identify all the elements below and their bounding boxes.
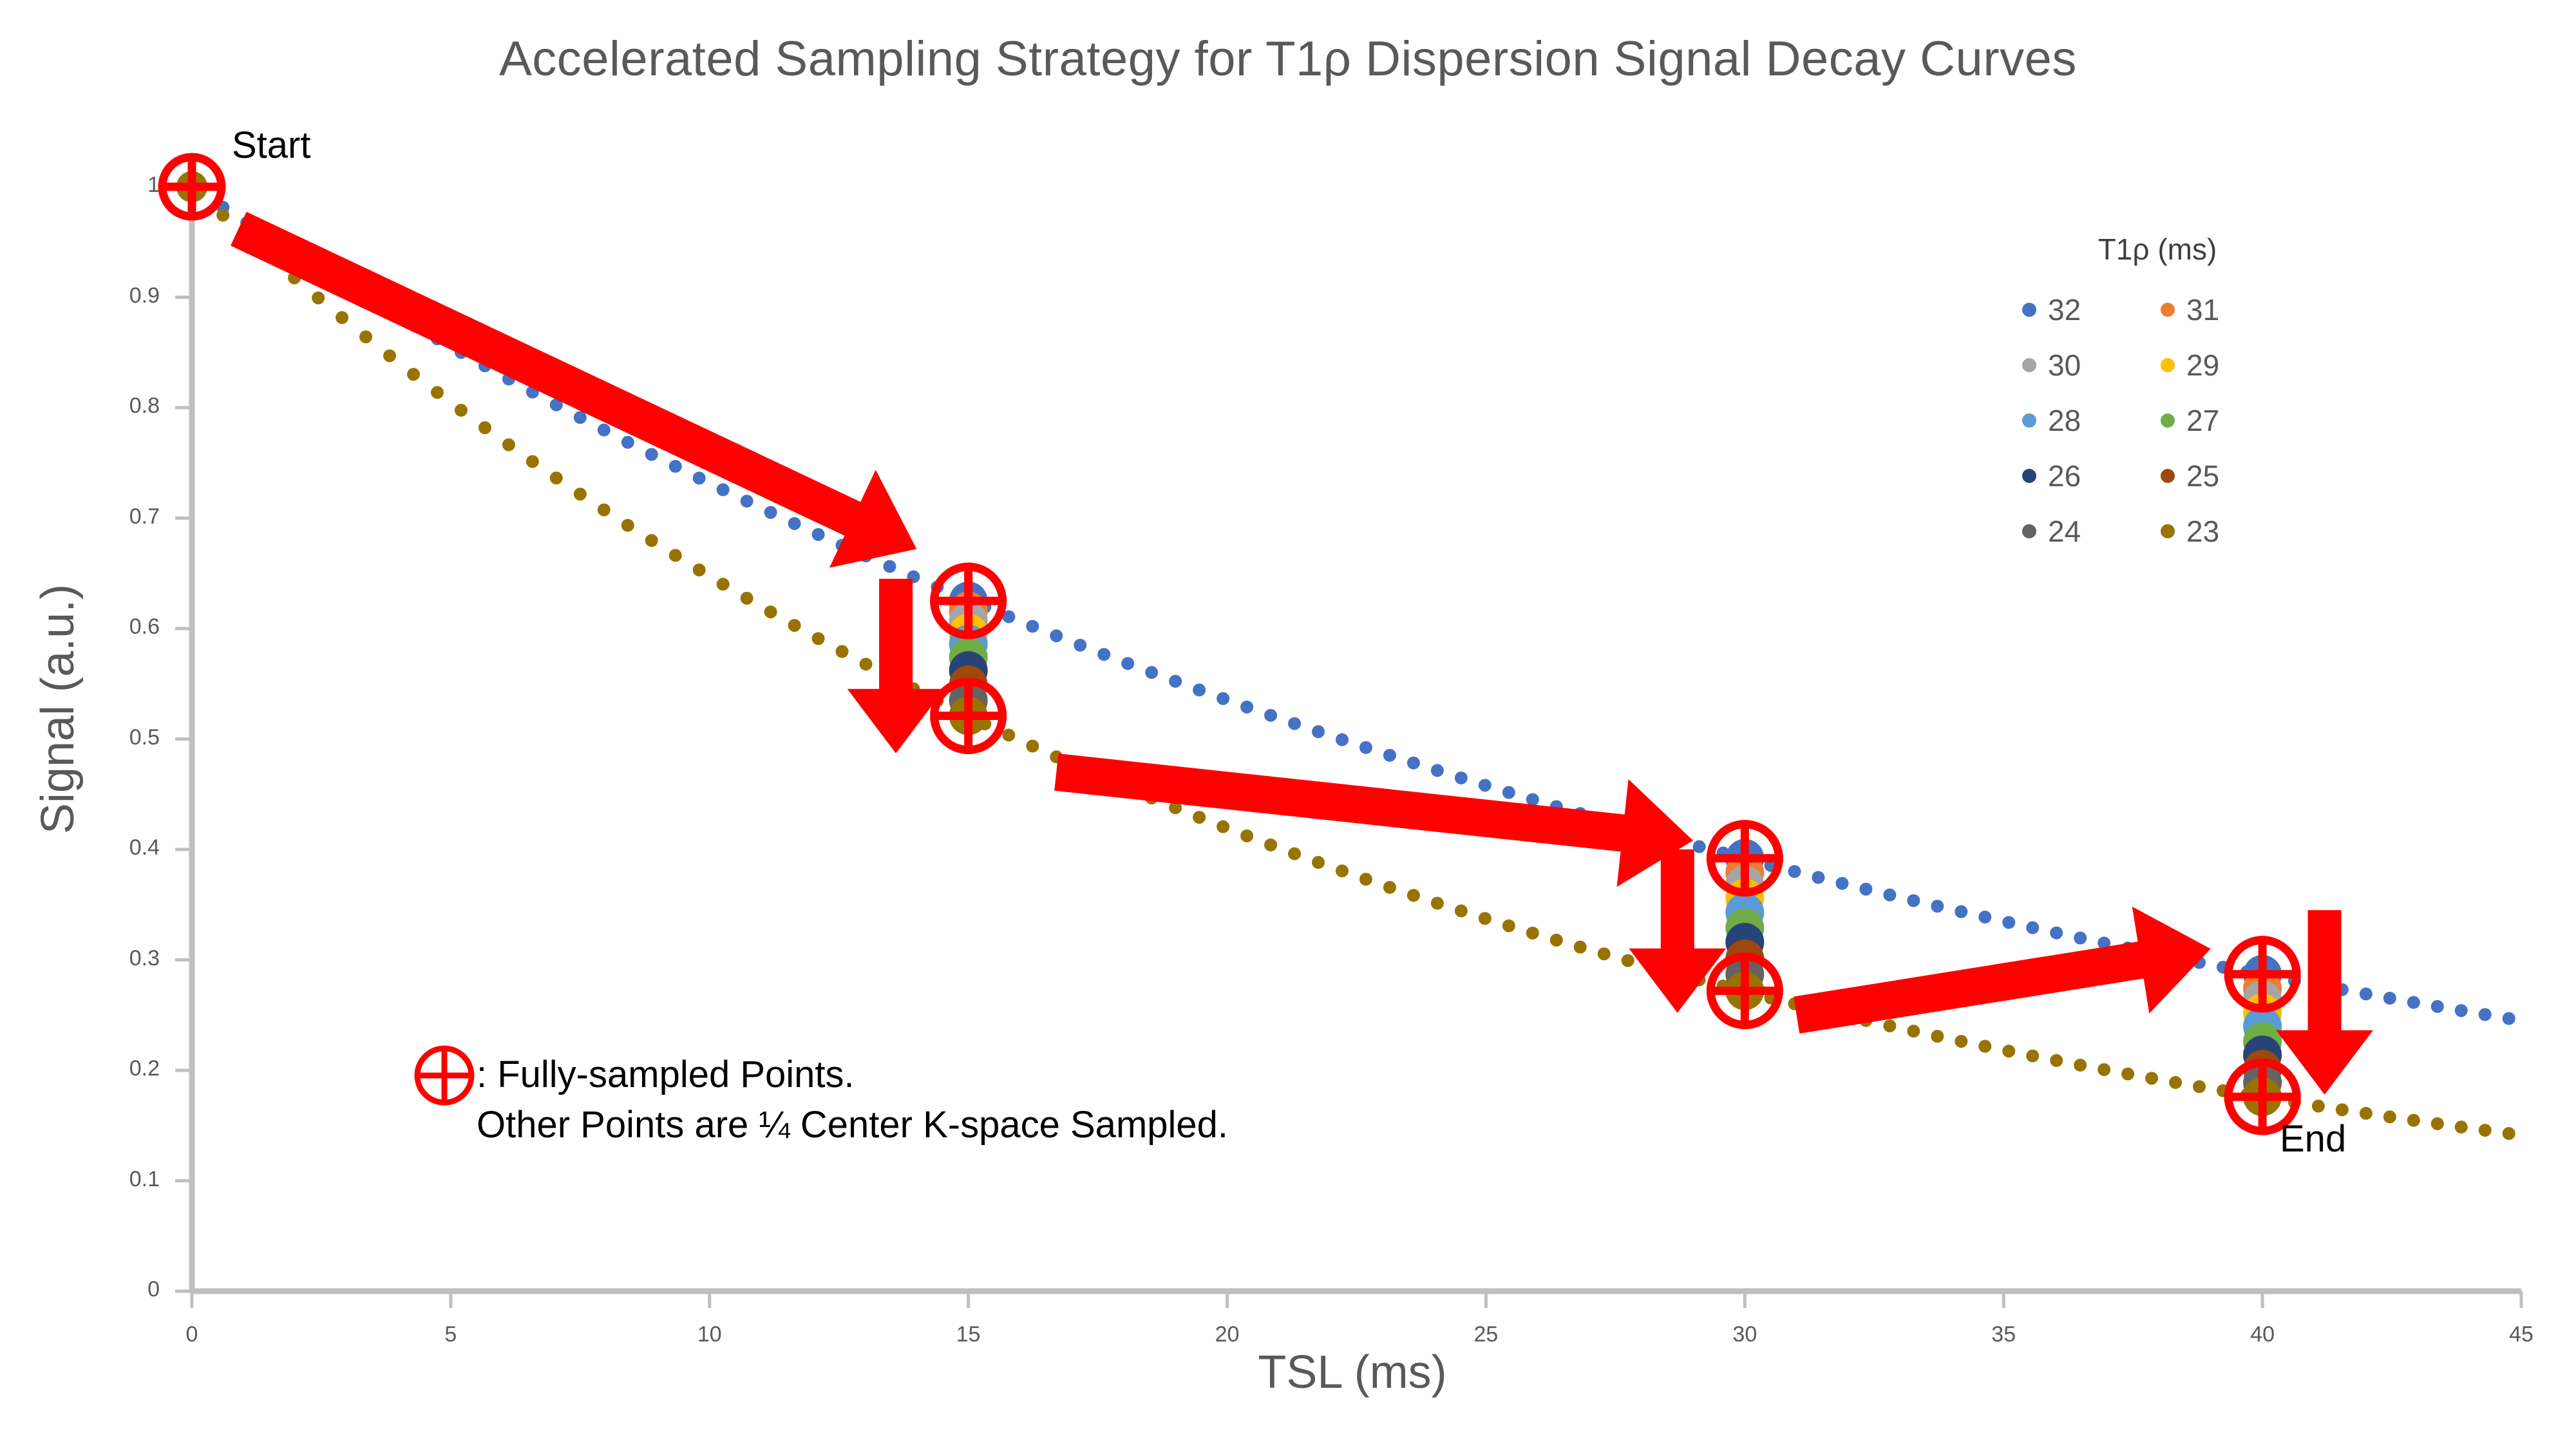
- legend-swatch-icon: [2161, 413, 2175, 428]
- x-tick-label: 10: [658, 1322, 761, 1347]
- curve-dot: [645, 448, 658, 461]
- curve-dot: [1407, 889, 1420, 902]
- curve-dot: [1312, 856, 1325, 869]
- legend-swatch-icon: [2161, 303, 2175, 317]
- curve-dot: [1074, 639, 1086, 652]
- curve-dot: [2026, 1050, 2039, 1063]
- curve-dot: [1383, 881, 1396, 894]
- curve-dot: [812, 528, 825, 541]
- curve-dot: [2455, 1121, 2468, 1133]
- legend-item-label: 25: [2186, 461, 2219, 491]
- note-line-1: : Fully-sampled Points.: [477, 1050, 1228, 1100]
- x-tick-label: 40: [2211, 1322, 2314, 1347]
- curve-dot: [1931, 900, 1944, 913]
- legend-item[interactable]: 24: [2022, 516, 2154, 546]
- curve-dot: [1931, 1030, 1944, 1043]
- start-label: Start: [232, 124, 311, 167]
- curve-dot: [383, 349, 396, 362]
- curve-dot: [1145, 666, 1158, 679]
- legend-item-label: 23: [2186, 516, 2219, 546]
- curve-dot: [1050, 629, 1063, 642]
- curve-dot: [1550, 934, 1563, 947]
- curve-dot: [1955, 1035, 1967, 1048]
- legend-item[interactable]: 31: [2161, 295, 2293, 325]
- curve-dot: [788, 517, 801, 530]
- curve-dot: [764, 605, 777, 618]
- curve-dot: [1835, 877, 1848, 890]
- curve-dot: [645, 534, 658, 547]
- fully-sampled-marker[interactable]: [2224, 936, 2301, 1012]
- y-tick-label: 0.5: [70, 725, 160, 750]
- curve-dot: [1883, 889, 1896, 902]
- legend-title: T1ρ (ms): [2022, 232, 2293, 267]
- curve-dot: [1026, 620, 1039, 633]
- curve-dot: [1788, 865, 1801, 878]
- curve-dot: [812, 632, 825, 645]
- legend-swatch-icon: [2022, 524, 2036, 538]
- curve-dot: [860, 658, 873, 670]
- legend-item-label: 28: [2048, 406, 2081, 435]
- curve-dot: [1407, 757, 1420, 770]
- curve-dot: [574, 411, 587, 424]
- legend-item-label: 31: [2186, 295, 2219, 325]
- curve-dot: [1955, 905, 1967, 918]
- curve-dot: [455, 404, 468, 417]
- curve-dot: [1431, 897, 1444, 910]
- curve-dot: [2360, 987, 2372, 1000]
- legend-item[interactable]: 28: [2022, 406, 2154, 435]
- strategy-arrow: [1794, 907, 2211, 1034]
- legend-item[interactable]: 27: [2161, 406, 2293, 435]
- curve-dot: [502, 439, 515, 451]
- curve-dot: [1978, 1040, 1991, 1053]
- curve-dot: [526, 455, 539, 468]
- strategy-arrow: [231, 212, 916, 568]
- curve-dot: [550, 471, 563, 484]
- note-line-2: Other Points are ¼ Center K-space Sample…: [477, 1100, 1228, 1150]
- curve-dot: [2002, 1045, 2015, 1057]
- curve-dot: [1598, 947, 1611, 960]
- curve-dot: [2145, 1072, 2158, 1084]
- curve-dot: [1288, 848, 1301, 860]
- curve-dot: [1336, 734, 1349, 746]
- curve-dot: [2479, 1124, 2492, 1137]
- chart-plot-area: [0, 0, 2576, 1449]
- x-tick-label: 0: [140, 1322, 243, 1347]
- curve-dot: [2074, 1059, 2087, 1072]
- curve-dot: [1359, 873, 1372, 885]
- curve-dot: [1312, 725, 1325, 738]
- curve-dot: [883, 560, 896, 573]
- curve-dot: [717, 578, 730, 591]
- x-tick-label: 25: [1434, 1322, 1537, 1347]
- curve-dot: [1264, 709, 1277, 722]
- legend-items: 32313029282726252423: [2022, 295, 2293, 546]
- curve-dot: [1455, 772, 1468, 784]
- fully-sampled-marker[interactable]: [930, 563, 1007, 639]
- chart-canvas: Accelerated Sampling Strategy for T1ρ Di…: [0, 0, 2576, 1449]
- legend-item-label: 32: [2048, 295, 2081, 325]
- curve-dot: [1097, 648, 1110, 661]
- strategy-arrow: [1054, 753, 1693, 887]
- strategy-arrow: [2276, 910, 2373, 1094]
- legend-swatch-icon: [2161, 524, 2175, 538]
- note-fully-sampled-icon: [417, 1048, 471, 1103]
- curve-dot: [1240, 701, 1253, 714]
- curve-dot: [1502, 920, 1515, 933]
- curve-dot: [788, 619, 801, 632]
- legend-item[interactable]: 25: [2161, 461, 2293, 491]
- legend-swatch-icon: [2161, 469, 2175, 483]
- curve-dot: [1907, 894, 1920, 907]
- legend-swatch-icon: [2022, 303, 2036, 317]
- legend-item-label: 30: [2048, 350, 2081, 380]
- curve-dot: [1193, 683, 1206, 696]
- legend-item-label: 29: [2186, 350, 2219, 380]
- fully-sampled-marker[interactable]: [1707, 820, 1783, 896]
- curve-dot: [1479, 912, 1492, 925]
- curve-dot: [764, 506, 777, 519]
- x-tick-label: 45: [2470, 1322, 2573, 1347]
- curve-dot: [216, 209, 229, 222]
- curve-dot: [669, 549, 682, 562]
- curve-dot: [2050, 927, 2063, 940]
- y-tick-label: 0.6: [70, 614, 160, 639]
- y-tick-label: 0.8: [70, 393, 160, 419]
- curve-dot: [2193, 1080, 2206, 1093]
- curve-dot: [1121, 657, 1134, 670]
- curve-dot: [2169, 1076, 2182, 1089]
- legend-swatch-icon: [2022, 413, 2036, 428]
- curve-dot: [574, 488, 587, 500]
- curve-dot: [693, 563, 706, 576]
- curve-dot: [2479, 1008, 2492, 1021]
- curve-dot: [1978, 911, 1991, 923]
- x-tick-label: 15: [917, 1322, 1020, 1347]
- legend-item-label: 24: [2048, 516, 2081, 546]
- legend-item[interactable]: 30: [2022, 350, 2154, 380]
- curve-dot: [1193, 811, 1206, 824]
- curve-dot: [1288, 717, 1301, 730]
- legend: T1ρ (ms) 32313029282726252423: [2022, 232, 2293, 546]
- x-axis-title: TSL (ms): [966, 1346, 1739, 1399]
- curve-dot: [2431, 1117, 2444, 1130]
- curve-dot: [1359, 741, 1372, 754]
- x-tick-label: 35: [1952, 1322, 2055, 1347]
- curve-dot: [2336, 1103, 2349, 1116]
- y-tick-label: 0.4: [70, 835, 160, 860]
- y-tick-label: 0.3: [70, 946, 160, 971]
- y-tick-label: 0.7: [70, 504, 160, 529]
- legend-item[interactable]: 29: [2161, 350, 2293, 380]
- curve-dot: [1002, 728, 1015, 741]
- curve-dot: [2312, 1100, 2325, 1113]
- curve-dot: [1812, 871, 1824, 884]
- legend-swatch-icon: [2022, 469, 2036, 483]
- curve-dot: [1574, 941, 1587, 954]
- legend-item-label: 27: [2186, 406, 2219, 435]
- curve-dot: [2503, 1127, 2515, 1140]
- y-tick-label: 0: [70, 1277, 160, 1302]
- curve-dot: [621, 519, 634, 532]
- curve-dot: [598, 504, 611, 516]
- curve-dot: [598, 424, 611, 437]
- curve-dot: [2360, 1107, 2372, 1120]
- curve-dot: [1431, 764, 1444, 777]
- curve-dot: [2431, 1000, 2444, 1013]
- y-tick-label: 0.9: [70, 283, 160, 308]
- fully-sampled-note: : Fully-sampled Points. Other Points are…: [477, 1050, 1228, 1151]
- curve-dot: [836, 645, 849, 658]
- curve-dot: [621, 436, 634, 449]
- y-tick-label: 0.1: [70, 1167, 160, 1192]
- curve-dot: [1907, 1025, 1920, 1037]
- end-label: End: [2280, 1117, 2346, 1160]
- curve-dot: [1169, 675, 1182, 688]
- curve-dot: [2455, 1004, 2468, 1017]
- curve-dot: [1479, 779, 1492, 791]
- legend-item[interactable]: 23: [2161, 516, 2293, 546]
- curve-dot: [1622, 954, 1634, 967]
- curve-dot: [336, 311, 348, 324]
- curve-dot: [1336, 864, 1349, 877]
- curve-dot: [2383, 1110, 2396, 1123]
- curve-dot: [2407, 996, 2420, 1009]
- curve-dot: [717, 483, 730, 496]
- curve-dot: [359, 330, 372, 343]
- curve-dot: [1240, 829, 1253, 842]
- y-tick-label: 1: [70, 173, 160, 198]
- curve-dot: [1217, 692, 1229, 705]
- curve-dot: [669, 460, 682, 473]
- curve-dot: [741, 592, 753, 605]
- curve-dot: [1693, 840, 1706, 853]
- curve-dot: [2121, 1068, 2134, 1081]
- curve-dot: [1217, 820, 1229, 833]
- curve-dot: [2407, 1114, 2420, 1127]
- curve-dot: [1383, 749, 1396, 762]
- curve-dot: [693, 471, 706, 484]
- curve-dot: [1526, 927, 1539, 940]
- curve-dot: [478, 421, 491, 434]
- legend-item-label: 26: [2048, 461, 2081, 491]
- curve-dot: [2002, 916, 2015, 929]
- x-tick-label: 5: [399, 1322, 502, 1347]
- legend-swatch-icon: [2161, 358, 2175, 372]
- curve-dot: [431, 386, 444, 399]
- curve-dot: [2026, 922, 2039, 934]
- curve-dot: [1883, 1019, 1896, 1032]
- curve-dot: [1859, 883, 1872, 896]
- y-tick-label: 0.2: [70, 1056, 160, 1081]
- curve-dot: [2098, 1063, 2110, 1076]
- legend-swatch-icon: [2022, 358, 2036, 372]
- curve-dot: [2074, 932, 2087, 945]
- x-tick-label: 30: [1693, 1322, 1796, 1347]
- curve-dot: [407, 368, 420, 381]
- curve-dot: [1455, 904, 1468, 917]
- curve-dot: [1502, 786, 1515, 799]
- legend-item[interactable]: 32: [2022, 295, 2154, 325]
- fully-sampled-marker[interactable]: [158, 153, 225, 220]
- legend-item[interactable]: 26: [2022, 461, 2154, 491]
- curve-dot: [1264, 838, 1277, 851]
- curve-dot: [2503, 1012, 2515, 1025]
- curve-dot: [2050, 1054, 2063, 1067]
- x-tick-label: 20: [1176, 1322, 1279, 1347]
- curve-dot: [1026, 740, 1039, 753]
- curve-dot: [2383, 992, 2396, 1005]
- fully-sampled-marker[interactable]: [1707, 952, 1783, 1029]
- curve-dot: [312, 292, 325, 305]
- curve-dot: [741, 495, 753, 507]
